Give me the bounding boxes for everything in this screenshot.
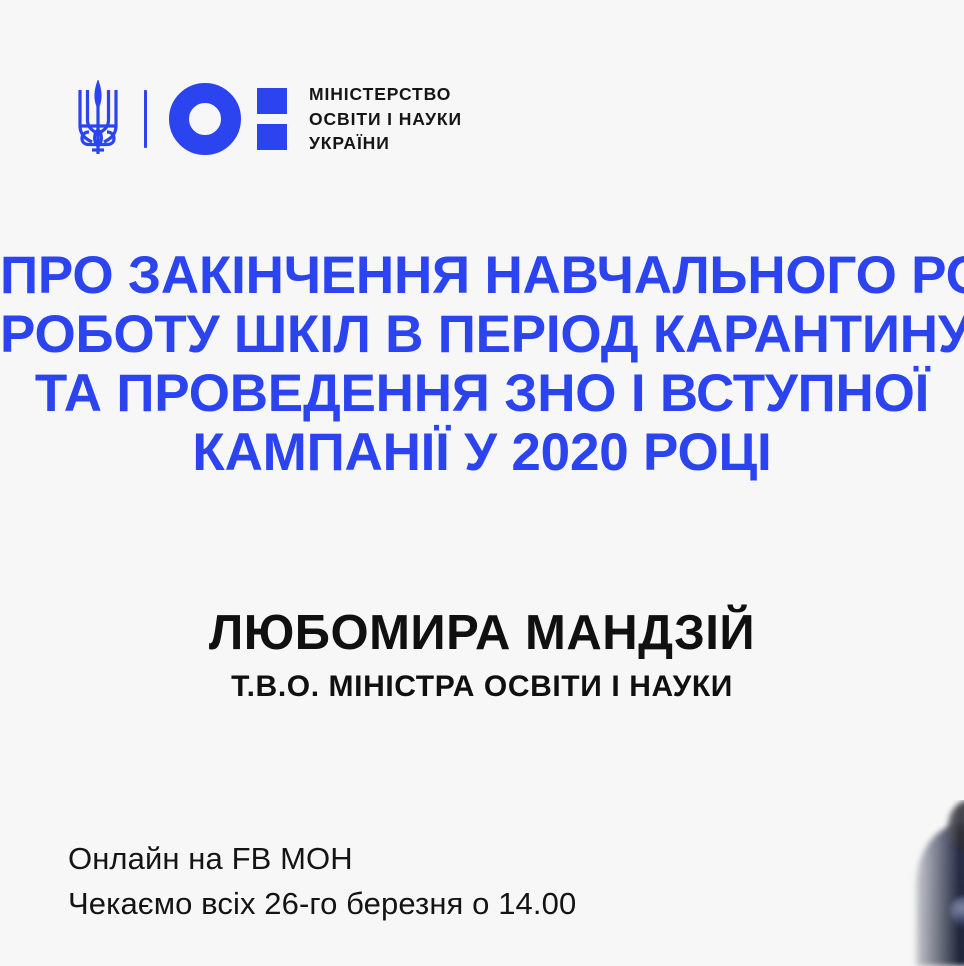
headline: ПРО ЗАКІНЧЕННЯ НАВЧАЛЬНОГО РОКУ, РОБОТУ … <box>0 246 964 482</box>
speaker-photo-head <box>948 800 964 852</box>
headline-line-4: КАМПАНІЇ У 2020 РОЦІ <box>0 423 964 482</box>
headline-line-2: РОБОТУ ШКІЛ В ПЕРІОД КАРАНТИНУ <box>0 305 964 364</box>
headline-line-1: ПРО ЗАКІНЧЕННЯ НАВЧАЛЬНОГО РОКУ, <box>0 246 964 305</box>
ministry-name: МІНІСТЕРСТВО ОСВІТИ І НАУКИ УКРАЇНИ <box>309 82 462 157</box>
logo-squares-icon <box>257 88 287 150</box>
speaker-photo-body <box>916 824 964 966</box>
logo-square-bottom <box>257 124 287 150</box>
speaker-photo-fade <box>890 800 964 966</box>
ministry-logo-lockup: МІНІСТЕРСТВО ОСВІТИ І НАУКИ УКРАЇНИ <box>70 80 462 158</box>
speaker-role: Т.В.О. МІНІСТРА ОСВІТИ І НАУКИ <box>0 669 964 705</box>
announcement-poster: МІНІСТЕРСТВО ОСВІТИ І НАУКИ УКРАЇНИ ПРО … <box>0 0 964 966</box>
mon-wordmark-icon <box>169 83 287 155</box>
event-details: Онлайн на FB МОН Чекаємо всіх 26-го бере… <box>68 836 576 926</box>
ministry-name-line-3: УКРАЇНИ <box>309 133 390 153</box>
headline-line-3: ТА ПРОВЕДЕННЯ ЗНО І ВСТУПНОЇ <box>0 364 964 423</box>
speaker-name: ЛЮБОМИРА МАНДЗІЙ <box>0 605 964 661</box>
logo-divider <box>144 90 147 148</box>
ministry-name-line-1: МІНІСТЕРСТВО <box>309 84 451 104</box>
logo-square-top <box>257 88 287 114</box>
logo-ring-icon <box>169 83 241 155</box>
ukrainian-trident-icon <box>70 80 126 158</box>
speaker-block: ЛЮБОМИРА МАНДЗІЙ Т.В.О. МІНІСТРА ОСВІТИ … <box>0 605 964 705</box>
event-datetime: Чекаємо всіх 26-го березня о 14.00 <box>68 881 576 926</box>
speaker-photo <box>890 800 964 966</box>
ministry-name-line-2: ОСВІТИ І НАУКИ <box>309 109 462 129</box>
event-channel: Онлайн на FB МОН <box>68 836 576 881</box>
speaker-photo-accent <box>950 896 964 926</box>
